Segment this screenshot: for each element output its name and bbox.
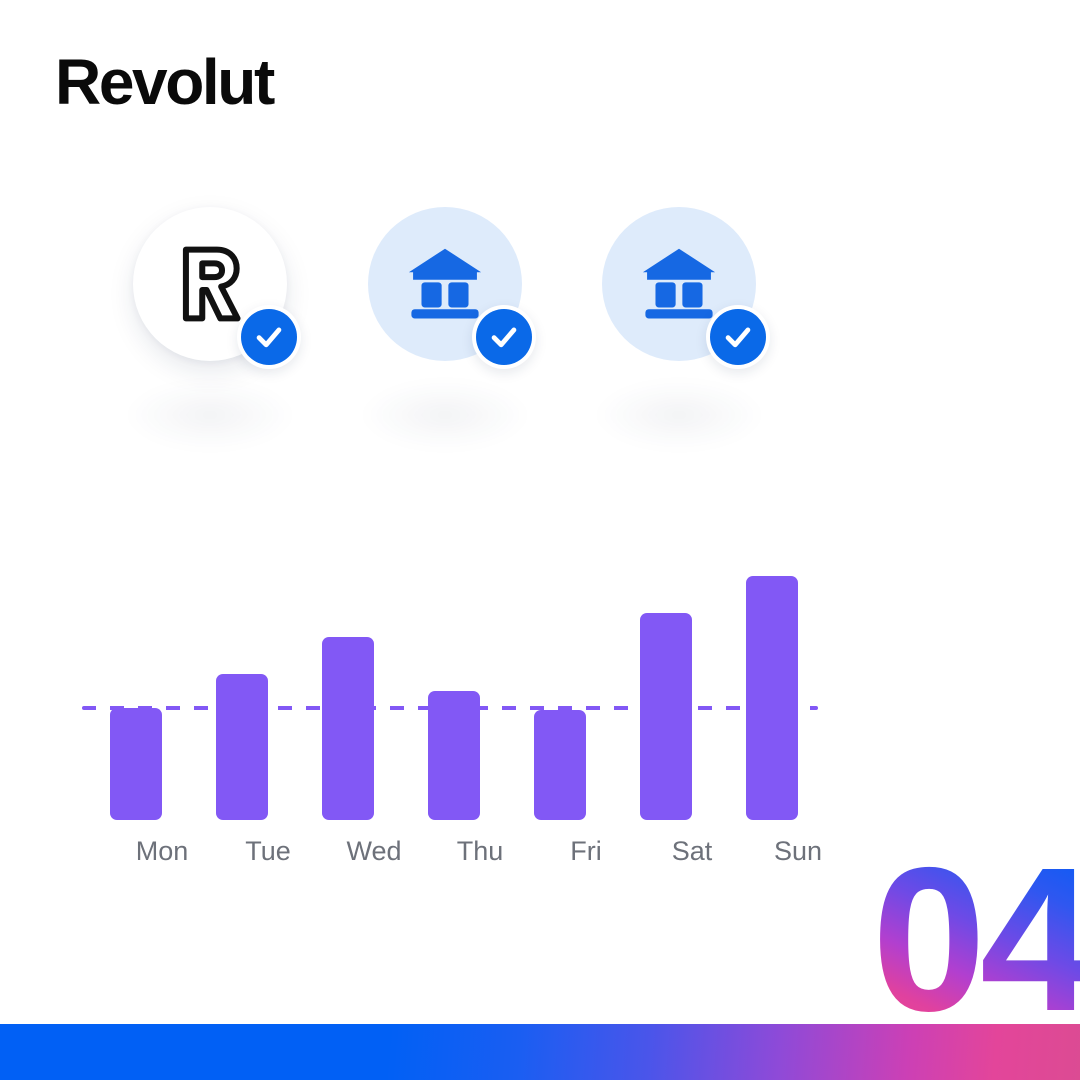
chart-x-label: Fri — [531, 838, 641, 865]
verified-badge-disc — [476, 309, 532, 365]
verified-badge — [472, 305, 536, 369]
chart-bar — [746, 576, 798, 820]
verified-badge-disc — [710, 309, 766, 365]
bank-icon — [403, 242, 487, 326]
chart-x-label: Thu — [425, 838, 535, 865]
account-chip-revolut[interactable] — [133, 207, 287, 361]
chart-x-label: Sat — [637, 838, 747, 865]
chart-bar — [640, 613, 692, 820]
verified-badge — [237, 305, 301, 369]
chart-x-label: Mon — [107, 838, 217, 865]
verified-badge — [706, 305, 770, 369]
chart-x-label: Wed — [319, 838, 429, 865]
chart-bar — [534, 710, 586, 820]
account-chip-bank-2[interactable] — [602, 207, 756, 361]
chart-x-axis-labels: MonTueWedThuFriSatSun — [88, 838, 848, 878]
chart-bar — [428, 691, 480, 820]
slide-canvas: Revolut — [0, 0, 1080, 1080]
chart-plot-area — [88, 552, 848, 820]
account-chip-bank-1[interactable] — [368, 207, 522, 361]
check-icon — [252, 320, 286, 354]
chart-x-label: Tue — [213, 838, 323, 865]
revolut-wordmark: Revolut — [55, 50, 273, 114]
chart-bar — [110, 708, 162, 820]
chart-bar — [216, 674, 268, 820]
bank-icon — [637, 242, 721, 326]
linked-accounts-row — [133, 207, 913, 407]
bottom-gradient-band — [0, 1024, 1080, 1080]
revolut-r-icon — [167, 241, 253, 327]
verified-badge-disc — [241, 309, 297, 365]
check-icon — [487, 320, 521, 354]
check-icon — [721, 320, 755, 354]
weekly-spending-chart: MonTueWedThuFriSatSun — [88, 552, 848, 882]
chart-bar — [322, 637, 374, 820]
slide-number: 04 — [872, 856, 1080, 1024]
chart-x-label: Sun — [743, 838, 853, 865]
